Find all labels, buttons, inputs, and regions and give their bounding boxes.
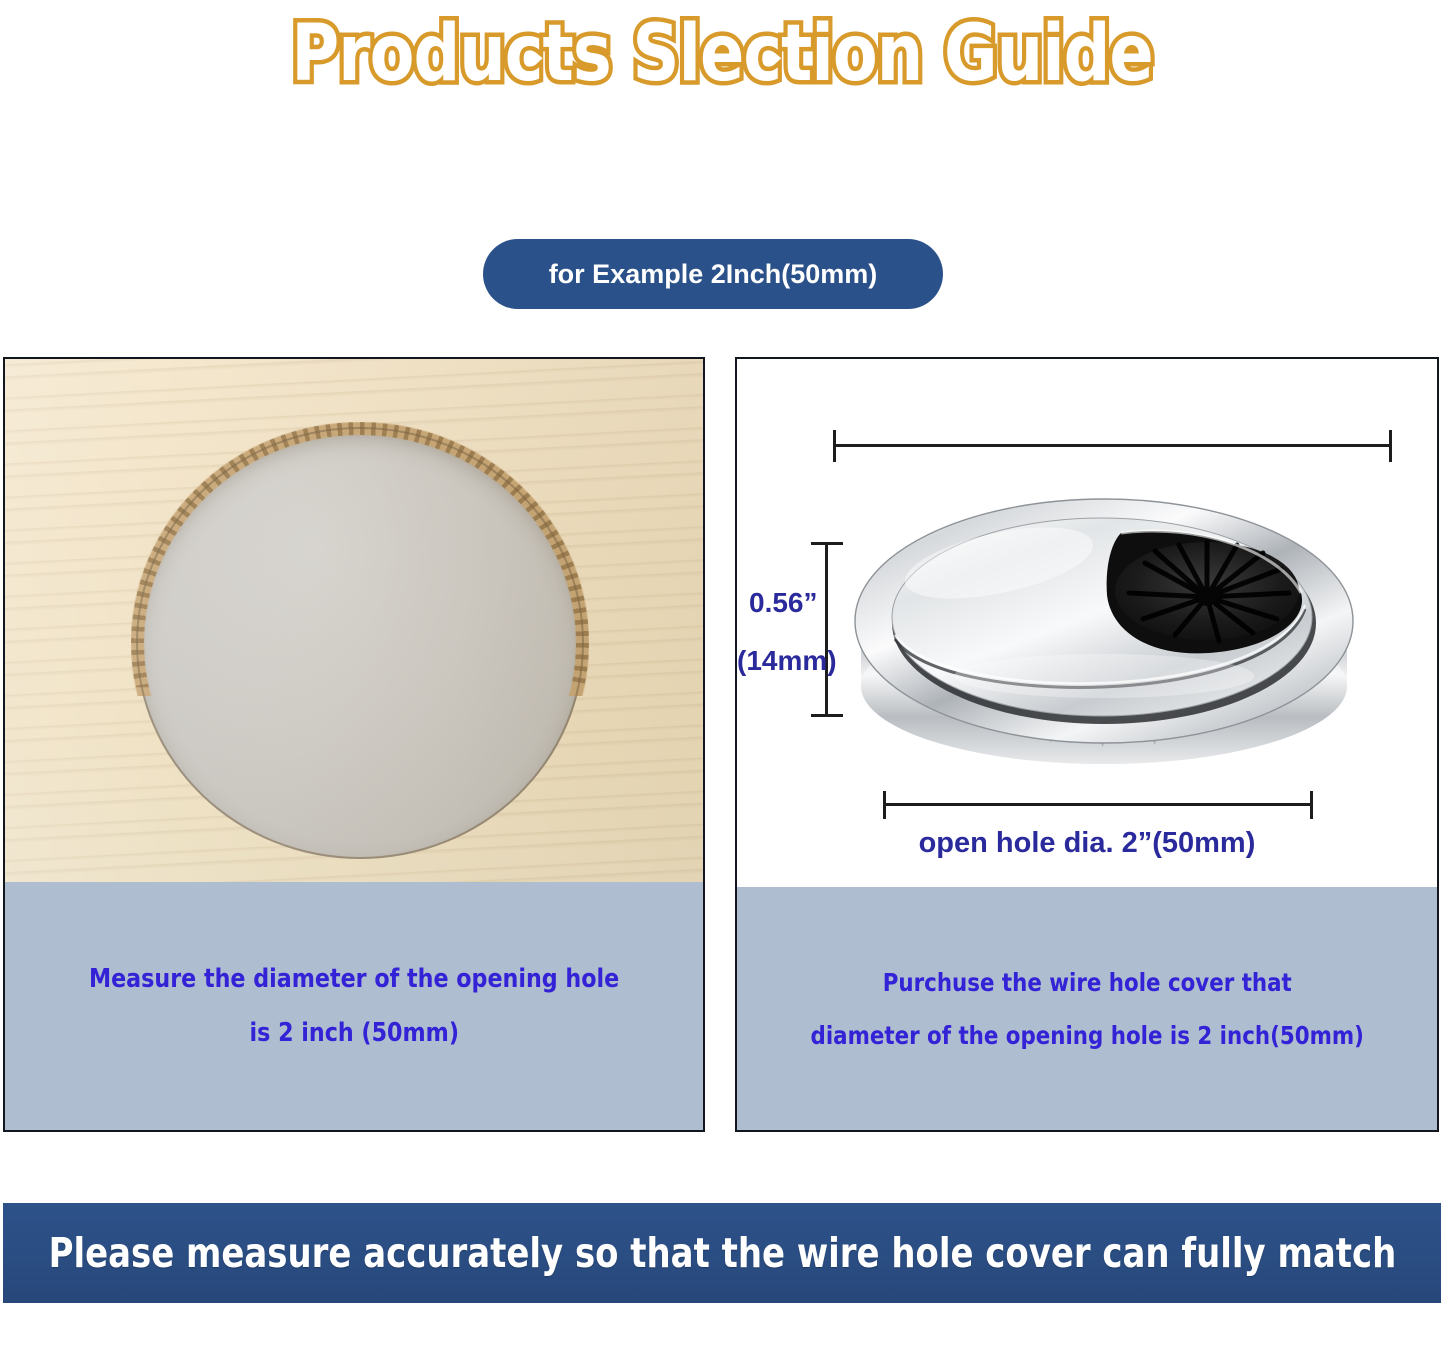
right-caption-line-2: diameter of the opening hole is 2 inch(5… <box>810 1023 1363 1048</box>
height-dimension-cap-top <box>811 542 843 545</box>
top-dimension-cap-left <box>833 430 836 462</box>
wood-board-photo: 2 inch (50mm) <box>5 359 703 882</box>
height-dimension-cap-bottom <box>811 714 843 717</box>
diameter-dimension-line <box>883 803 1313 806</box>
wire-hole-cover-product-image <box>849 471 1359 801</box>
left-caption-band: Measure the diameter of the opening hole… <box>5 882 703 1130</box>
diameter-label: open hole dia. 2”(50mm) <box>737 827 1437 860</box>
title-bar: Products Slection Guide <box>0 6 1445 102</box>
height-label-inches: 0.56” <box>749 587 818 619</box>
height-label-millimeters: (14mm) <box>737 645 837 677</box>
diameter-dimension-cap-right <box>1310 791 1313 819</box>
page-title: Products Slection Guide <box>292 9 1153 99</box>
left-caption-line-2: is 2 inch (50mm) <box>249 1020 458 1046</box>
product-photo-stage: 0.56” (14mm) <box>737 359 1437 887</box>
example-size-badge: for Example 2Inch(50mm) <box>483 239 943 309</box>
measure-hole-panel: 2 inch (50mm) Measure the diameter of th… <box>3 357 705 1132</box>
height-dimension-line <box>825 542 828 717</box>
product-dimensions-panel: 0.56” (14mm) <box>735 357 1439 1132</box>
example-size-badge-label: for Example 2Inch(50mm) <box>549 259 878 290</box>
right-caption-line-1: Purchuse the wire hole cover that <box>882 970 1291 995</box>
bottom-notice-banner: Please measure accurately so that the wi… <box>3 1203 1441 1303</box>
diameter-dimension-cap-left <box>883 791 886 819</box>
left-caption-line-1: Measure the diameter of the opening hole <box>89 966 619 992</box>
bottom-notice-text: Please measure accurately so that the wi… <box>48 1229 1396 1277</box>
hole-edge-outline <box>136 427 584 859</box>
right-caption-band: Purchuse the wire hole cover that diamet… <box>737 887 1437 1130</box>
top-dimension-line <box>833 444 1392 447</box>
top-dimension-cap-right <box>1389 430 1392 462</box>
